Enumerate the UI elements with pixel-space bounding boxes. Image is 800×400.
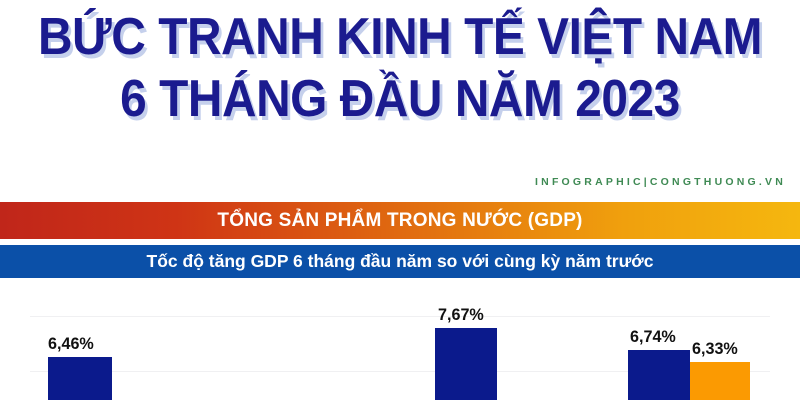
chart-bar-value-label: 6,46% xyxy=(48,334,94,354)
chart-bar xyxy=(435,328,497,400)
gdp-growth-bar-chart: 6,46%7,67%6,74%6,33% xyxy=(0,285,800,400)
gdp-section-banner-label: TỔNG SẢN PHẨM TRONG NƯỚC (GDP) xyxy=(217,210,582,232)
chart-bar-value-label: 6,33% xyxy=(692,339,738,359)
gdp-subtitle-banner: Tốc độ tăng GDP 6 tháng đầu năm so với c… xyxy=(0,245,800,278)
infographic-credit: INFOGRAPHIC|CONGTHUONG.VN xyxy=(535,176,786,188)
chart-gridline xyxy=(30,316,770,317)
page-title-line-2: 6 THÁNG ĐẦU NĂM 2023 xyxy=(32,68,768,130)
chart-bar xyxy=(690,362,750,400)
page-title-line-1: BỨC TRANH KINH TẾ VIỆT NAM xyxy=(32,6,768,68)
gdp-subtitle-banner-label: Tốc độ tăng GDP 6 tháng đầu năm so với c… xyxy=(147,251,654,272)
chart-bar-value-label: 6,74% xyxy=(630,327,676,347)
chart-bar-value-label: 7,67% xyxy=(438,305,484,325)
chart-bar xyxy=(628,350,690,400)
gdp-section-banner: TỔNG SẢN PHẨM TRONG NƯỚC (GDP) xyxy=(0,202,800,239)
chart-bar xyxy=(48,357,112,400)
page-title: BỨC TRANH KINH TẾ VIỆT NAM 6 THÁNG ĐẦU N… xyxy=(0,6,800,130)
